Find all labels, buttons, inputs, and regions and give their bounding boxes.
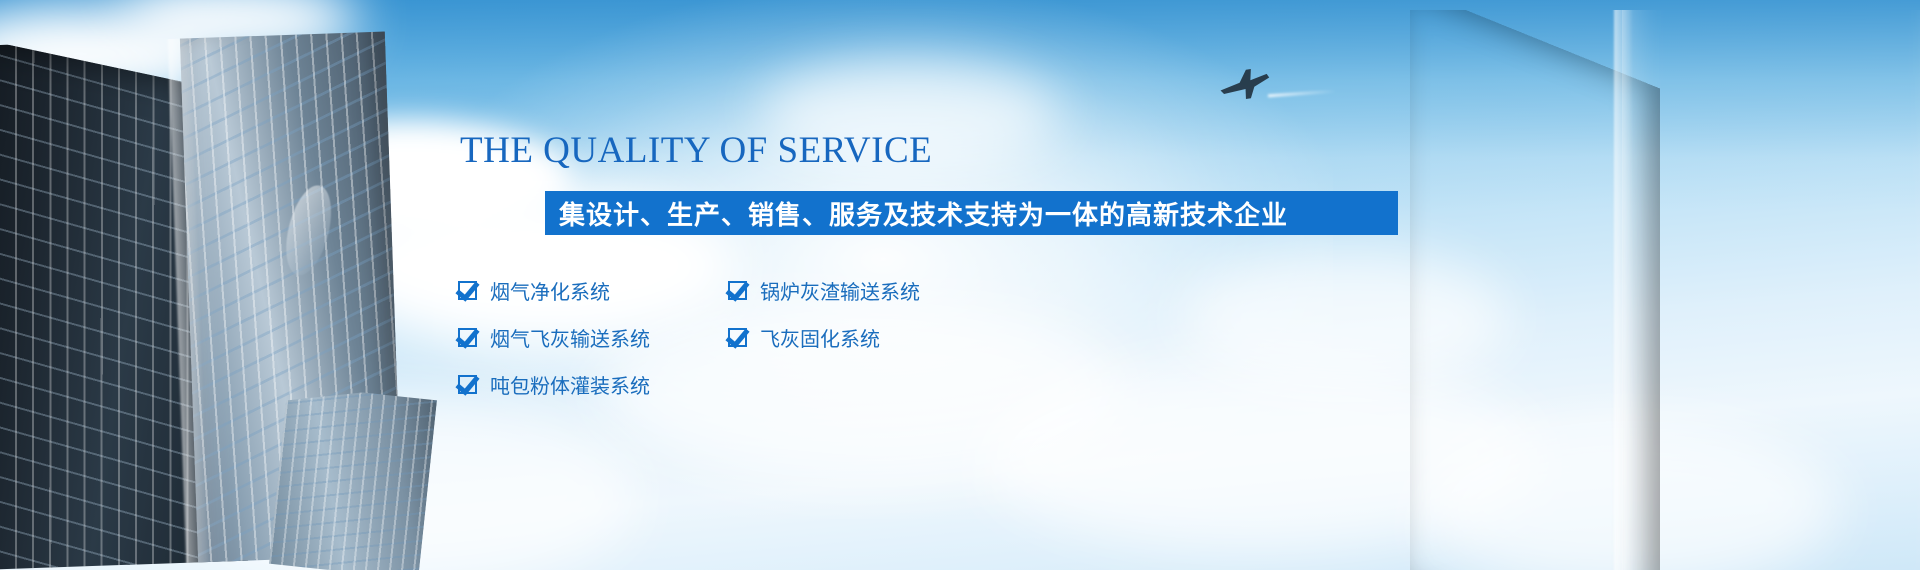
feature-item[interactable]: 锅炉灰渣输送系统 [728, 276, 998, 305]
building-face [1622, 10, 1920, 570]
banner-tagline-bar: 集设计、生产、销售、服务及技术支持为一体的高新技术企业 [545, 191, 1398, 235]
checkbox-checked-icon [458, 328, 477, 347]
feature-label: 烟气净化系统 [490, 276, 610, 305]
feature-label: 飞灰固化系统 [760, 323, 880, 352]
feature-item[interactable]: 烟气净化系统 [458, 276, 728, 305]
banner-tagline-text: 集设计、生产、销售、服务及技术支持为一体的高新技术企业 [545, 195, 1288, 232]
airplane-icon [1218, 68, 1272, 102]
feature-item[interactable]: 吨包粉体灌装系统 [458, 370, 728, 399]
glass-skyscraper-left-small [269, 385, 437, 570]
building-edge [1614, 10, 1632, 570]
feature-label: 锅炉灰渣输送系统 [760, 276, 920, 305]
hero-banner: THE QUALITY OF SERVICE 集设计、生产、销售、服务及技术支持… [0, 0, 1920, 570]
checkbox-checked-icon [458, 281, 477, 300]
checkbox-checked-icon [728, 281, 747, 300]
building-face [269, 385, 437, 570]
feature-list: 烟气净化系统 锅炉灰渣输送系统 烟气飞灰输送系统 飞灰固化系统 吨包粉体灌装系统 [458, 267, 1458, 408]
banner-headline: THE QUALITY OF SERVICE [460, 132, 1458, 169]
feature-label: 烟气飞灰输送系统 [490, 323, 650, 352]
feature-item[interactable]: 烟气飞灰输送系统 [458, 323, 728, 352]
feature-label: 吨包粉体灌装系统 [490, 370, 650, 399]
checkbox-checked-icon [458, 375, 477, 394]
feature-item[interactable]: 飞灰固化系统 [728, 323, 998, 352]
checkbox-checked-icon [728, 328, 747, 347]
banner-content: THE QUALITY OF SERVICE 集设计、生产、销售、服务及技术支持… [458, 132, 1458, 408]
